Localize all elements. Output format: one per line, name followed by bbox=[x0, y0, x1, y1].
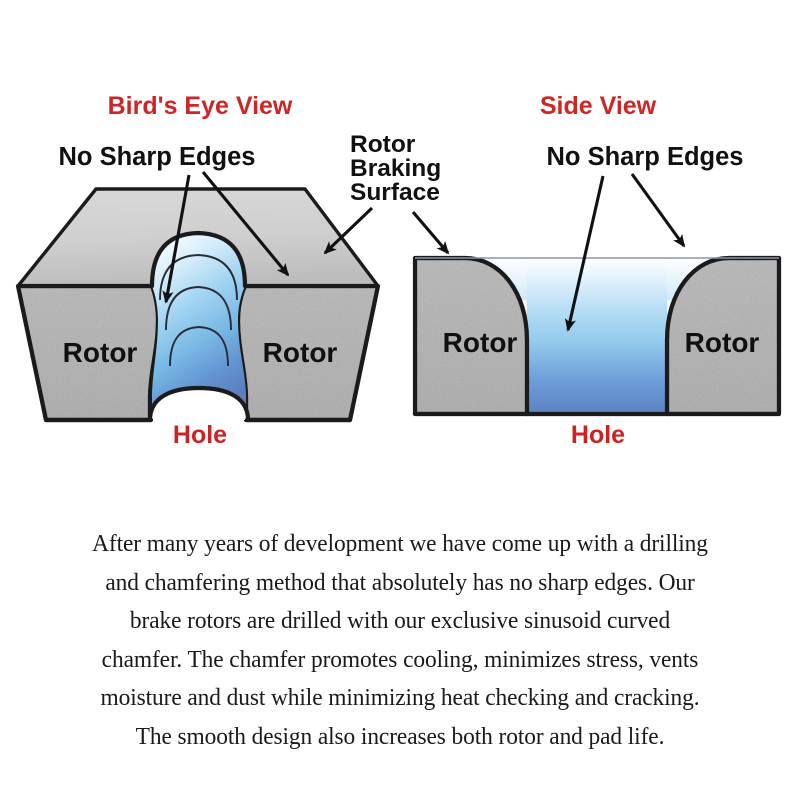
side-view-title: Side View bbox=[540, 92, 657, 120]
caption-line-1: After many years of development we have … bbox=[18, 525, 782, 564]
rotor-braking-surface-line-2: Braking bbox=[350, 155, 441, 182]
no-sharp-edges-label-left: No Sharp Edges bbox=[59, 143, 256, 171]
side-rotor-label-right: Rotor bbox=[685, 327, 760, 358]
caption-line-2: and chamfering method that absolutely ha… bbox=[18, 564, 782, 603]
hole-label-left: Hole bbox=[173, 421, 227, 449]
rotor-body-label-left: Rotor bbox=[63, 337, 138, 368]
birds-eye-view-title: Bird's Eye View bbox=[108, 92, 293, 120]
rotor-braking-surface-line-1: Rotor bbox=[350, 131, 416, 158]
technical-diagram-svg: Bird's Eye View No Sharp Edges Rotor Bra… bbox=[0, 0, 800, 470]
arrow-no-sharp-edges-right-b bbox=[632, 174, 684, 246]
birds-eye-view-group: Bird's Eye View No Sharp Edges Rotor Bra… bbox=[18, 92, 441, 449]
side-view-group: Side View No Sharp Edges Rotor Rot bbox=[413, 92, 779, 449]
caption-line-4: chamfer. The chamfer promotes cooling, m… bbox=[18, 641, 782, 680]
no-sharp-edges-label-right: No Sharp Edges bbox=[547, 143, 744, 171]
page-root: Bird's Eye View No Sharp Edges Rotor Bra… bbox=[0, 0, 800, 800]
rotor-braking-surface-line-3: Surface bbox=[350, 179, 440, 206]
diagram-area: Bird's Eye View No Sharp Edges Rotor Bra… bbox=[0, 0, 800, 470]
caption-line-3: brake rotors are drilled with our exclus… bbox=[18, 602, 782, 641]
arrow-rotor-braking-surface-right bbox=[413, 212, 448, 253]
side-hole-blue-core bbox=[527, 258, 667, 414]
side-rotor-label-left: Rotor bbox=[443, 327, 518, 358]
caption-line-5: moisture and dust while minimizing heat … bbox=[18, 679, 782, 718]
rotor-body-label-right: Rotor bbox=[263, 337, 338, 368]
rotor-braking-surface-label: Rotor Braking Surface bbox=[350, 131, 441, 206]
caption-line-6: The smooth design also increases both ro… bbox=[18, 718, 782, 757]
hole-label-right: Hole bbox=[571, 421, 625, 449]
caption-block: After many years of development we have … bbox=[0, 525, 800, 756]
